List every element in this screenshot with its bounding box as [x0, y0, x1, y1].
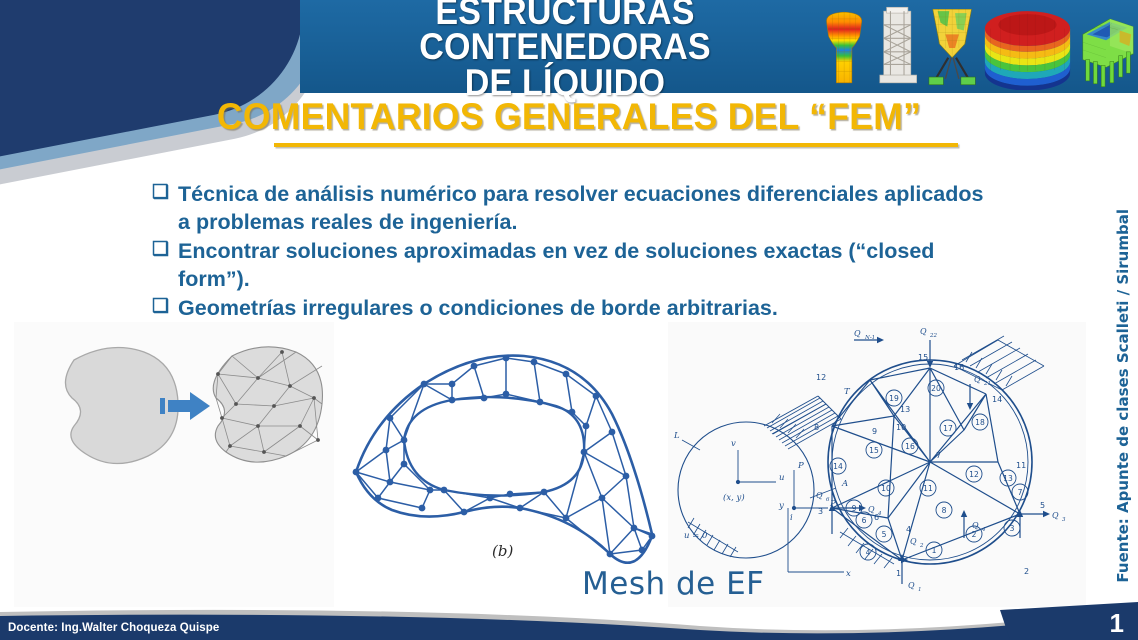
axis-label-y: y: [778, 501, 784, 511]
boundary-condition-label: u = 0: [684, 531, 708, 541]
airfoil-mesh-nodes: [353, 355, 656, 558]
source-note: Fuente: Apunte de clases Scalleti / Siru…: [1110, 196, 1136, 596]
svg-text:2: 2: [1024, 567, 1029, 576]
svg-text:10: 10: [896, 423, 906, 432]
svg-text:Q: Q: [868, 505, 875, 514]
svg-text:Q: Q: [1052, 511, 1059, 520]
page-title: COMENTARIOS GENERALES DEL “FEM”: [23, 96, 1115, 138]
svg-text:12: 12: [969, 470, 979, 479]
svg-text:1: 1: [896, 569, 901, 578]
svg-text:1: 1: [932, 546, 937, 555]
page-number: 1: [1110, 608, 1124, 639]
airfoil-mesh-figure: (b): [334, 322, 668, 607]
svg-text:19: 19: [889, 394, 899, 403]
svg-text:5: 5: [882, 530, 887, 539]
svg-text:14: 14: [833, 462, 843, 471]
svg-text:21: 21: [983, 381, 991, 387]
svg-text:3: 3: [818, 507, 823, 516]
svg-text:16: 16: [905, 442, 915, 451]
tank-dome-fem-thumbnail: [981, 4, 1074, 90]
svg-text:11: 11: [1016, 461, 1026, 470]
list-item: ❑ Técnica de análisis numérico para reso…: [152, 180, 992, 237]
presentation-title: ESTRUCTURAS CONTENEDORAS DE LÍQUIDO: [300, 2, 830, 92]
rectangular-tank-fem-thumbnail: [1077, 4, 1137, 90]
svg-text:12: 12: [816, 373, 826, 382]
circular-domain-and-triangulated-disc-figure: T A L u = 0 (x, y) v u P P i: [668, 322, 1086, 607]
footer-docente: Docente: Ing.Walter Choqueza Quispe: [8, 622, 219, 634]
svg-text:4: 4: [866, 548, 871, 557]
svg-text:15: 15: [918, 353, 928, 362]
svg-text:16: 16: [954, 363, 964, 372]
water-tower-fem-thumbnail: [817, 4, 871, 90]
svg-text:13: 13: [900, 405, 910, 414]
force-label-py: P: [797, 461, 804, 471]
svg-text:8: 8: [942, 506, 947, 515]
page-title-underline: [274, 143, 958, 147]
figure-band: (b): [0, 322, 1138, 607]
list-item-label: Técnica de análisis numérico para resolv…: [178, 180, 992, 237]
disc-element-labels: 1 2 3 4 5 6 7 8 9 10 11 12 13 14 15 16 1…: [830, 380, 1028, 560]
svg-text:Q: Q: [972, 521, 979, 530]
airfoil-mesh-edges: [356, 356, 652, 563]
svg-text:9: 9: [852, 504, 857, 513]
airfoil-figure-label: (b): [492, 542, 513, 560]
checkbox-bullet-icon: ❑: [152, 294, 169, 320]
axis-label-v: v: [731, 439, 736, 449]
list-item: ❑ Geometrías irregulares o condiciones d…: [152, 294, 992, 322]
list-item-label: Geometrías irregulares o condiciones de …: [178, 294, 992, 322]
axis-label-u: u: [779, 473, 784, 483]
svg-text:Q: Q: [910, 537, 917, 546]
svg-text:4: 4: [906, 525, 911, 534]
node-label-i: i: [790, 513, 793, 523]
slide-root: ESTRUCTURAS CONTENEDORAS DE LÍQUIDO: [0, 0, 1138, 640]
svg-text:20: 20: [931, 384, 941, 393]
svg-text:22: 22: [929, 333, 937, 339]
svg-text:6: 6: [862, 516, 867, 525]
svg-text:Q: Q: [854, 329, 861, 338]
steel-frame-tower-thumbnail: [874, 4, 922, 90]
point-coordinate-label: (x, y): [723, 492, 745, 503]
mesh-de-ef-caption: Mesh de EF: [582, 566, 765, 602]
svg-text:11: 11: [923, 484, 933, 493]
svg-text:5: 5: [1040, 501, 1045, 510]
svg-text:13: 13: [1003, 474, 1013, 483]
svg-text:Q: Q: [816, 491, 823, 500]
triangulated-disc: [828, 336, 1048, 584]
area-label-A: A: [841, 479, 848, 489]
source-note-text: Fuente: Apunte de clases Scalleti / Siru…: [1114, 209, 1132, 583]
svg-text:7: 7: [936, 451, 941, 460]
global-axes: [788, 508, 844, 572]
svg-text:4: 4: [981, 527, 986, 533]
svg-text:Q: Q: [974, 375, 981, 384]
svg-text:10: 10: [881, 484, 891, 493]
checkbox-bullet-icon: ❑: [152, 237, 169, 263]
svg-text:N-1: N-1: [864, 335, 875, 341]
svg-text:18: 18: [975, 418, 985, 427]
footer: Docente: Ing.Walter Choqueza Quispe 1: [0, 600, 1138, 640]
svg-text:Q: Q: [920, 327, 927, 336]
svg-text:7: 7: [1018, 488, 1023, 497]
discretized-domain-mesh: [213, 347, 322, 462]
presentation-title-line1: ESTRUCTURAS CONTENEDORAS: [321, 0, 809, 65]
list-item-label: Encontrar soluciones aproximadas en vez …: [178, 237, 992, 294]
svg-text:1: 1: [918, 587, 922, 593]
svg-text:8: 8: [814, 423, 819, 432]
checkbox-bullet-icon: ❑: [152, 180, 169, 206]
svg-text:2: 2: [972, 530, 977, 539]
fem-thumbnail-strip: [815, 2, 1137, 90]
svg-text:15: 15: [869, 446, 879, 455]
axis-label-x: x: [846, 569, 851, 579]
svg-text:4: 4: [877, 511, 882, 517]
svg-text:9: 9: [872, 427, 877, 436]
svg-text:6: 6: [826, 497, 830, 503]
svg-text:17: 17: [943, 424, 953, 433]
svg-text:3: 3: [1010, 524, 1015, 533]
svg-text:14: 14: [992, 395, 1002, 404]
svg-text:Q: Q: [908, 581, 915, 590]
boundary-label-L: L: [673, 431, 680, 441]
load-label-T: T: [844, 387, 851, 397]
list-item: ❑ Encontrar soluciones aproximadas en ve…: [152, 237, 992, 294]
hopper-funnel-fem-thumbnail: [926, 4, 978, 90]
domain-to-mesh-figure: [14, 322, 334, 607]
svg-text:2: 2: [919, 543, 924, 549]
svg-text:3: 3: [1062, 517, 1066, 523]
presentation-title-line2: DE LÍQUIDO: [465, 65, 665, 101]
